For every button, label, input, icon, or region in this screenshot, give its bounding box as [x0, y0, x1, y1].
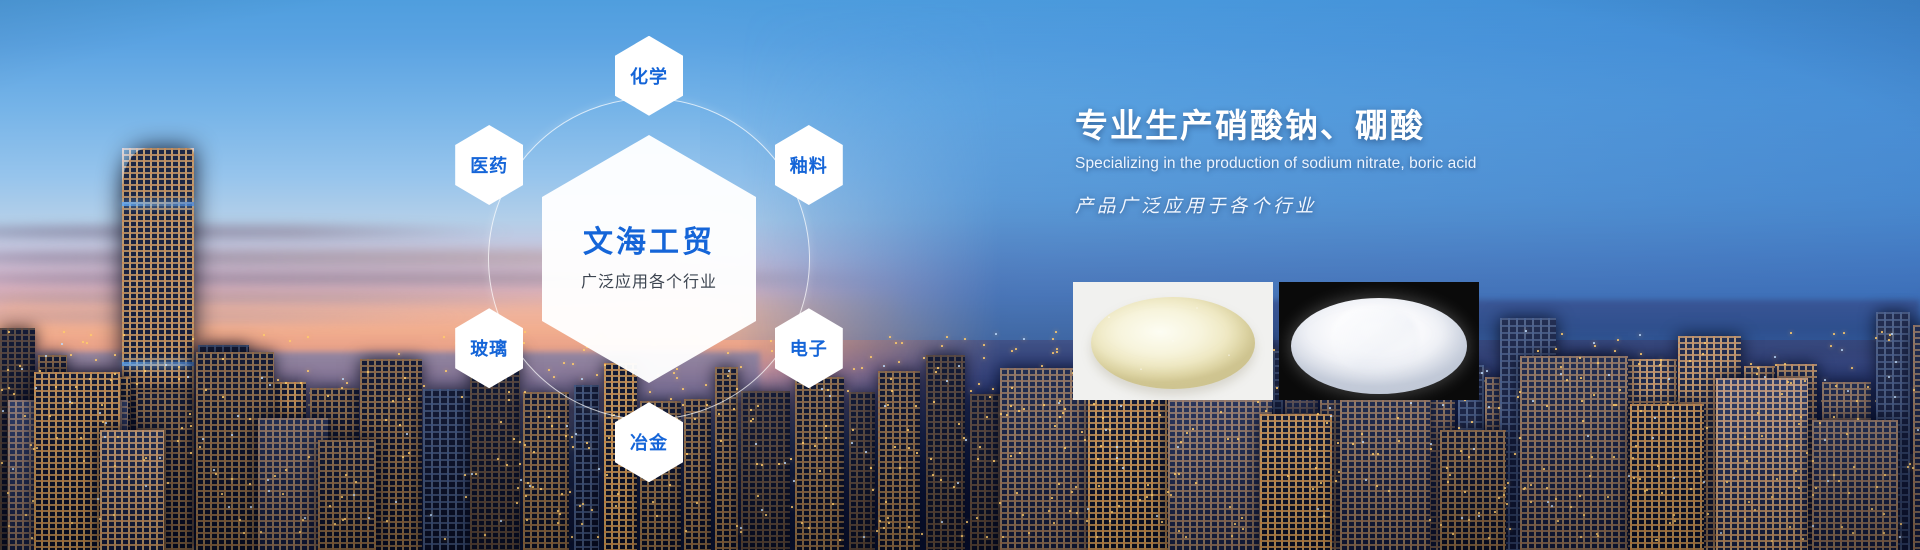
hex-node-glass-label: 玻璃: [470, 335, 508, 361]
building-windows: [878, 371, 921, 550]
company-tagline: 广泛应用各个行业: [581, 268, 717, 292]
building-windows: [1630, 404, 1704, 550]
building-windows: [1088, 398, 1170, 550]
hexagon-industry-wheel: 文海工贸 广泛应用各个行业 化学釉料电子冶金玻璃医药: [414, 24, 884, 494]
powder-speckle: [1073, 282, 1273, 400]
building-windows: [926, 355, 965, 550]
headline-block: 专业生产硝酸钠、硼酸 Specializing in the productio…: [1075, 105, 1835, 218]
building-windows: [1520, 356, 1628, 550]
building: [1340, 382, 1430, 550]
product-photo-sodium-nitrate[interactable]: [1073, 282, 1273, 400]
building-windows: [1440, 430, 1506, 550]
building: [100, 430, 164, 550]
building: [1716, 378, 1808, 550]
hex-node-glaze-label: 釉料: [790, 152, 828, 178]
tower-light-stripe: [122, 362, 194, 366]
building: [1440, 430, 1506, 550]
hex-node-electronics-label: 电子: [790, 335, 828, 361]
building: [318, 440, 376, 550]
building: [1088, 398, 1170, 550]
building-windows: [1716, 378, 1808, 550]
building-windows: [318, 440, 376, 550]
building: [1630, 404, 1704, 550]
building: [878, 371, 921, 550]
building-windows: [1260, 414, 1332, 550]
building: [1913, 325, 1920, 550]
building-windows: [100, 430, 164, 550]
hex-node-chemical-label: 化学: [630, 63, 668, 89]
company-name: 文海工贸: [583, 226, 715, 259]
city-light-dot-field: [0, 0, 2, 2]
city-skyline: [0, 0, 1920, 550]
hex-node-pharma-label: 医药: [470, 152, 508, 178]
product-photo-boric-acid[interactable]: [1279, 282, 1479, 400]
building-windows: [1913, 325, 1920, 550]
tower-light-stripe: [122, 202, 194, 206]
building: [1812, 420, 1898, 550]
product-photo-row: [1073, 282, 1479, 400]
headline-chinese: 专业生产硝酸钠、硼酸: [1075, 105, 1835, 146]
building-windows: [1812, 420, 1898, 550]
banner-stage: 文海工贸 广泛应用各个行业 化学釉料电子冶金玻璃医药 专业生产硝酸钠、硼酸 Sp…: [0, 0, 1920, 550]
building: [1520, 356, 1628, 550]
headline-english: Specializing in the production of sodium…: [1075, 155, 1835, 173]
tagline-chinese: 产品广泛应用于各个行业: [1075, 192, 1835, 218]
building: [1260, 414, 1332, 550]
building-windows: [1340, 382, 1430, 550]
building: [926, 355, 965, 550]
hex-node-metallurgy-label: 冶金: [630, 429, 668, 455]
